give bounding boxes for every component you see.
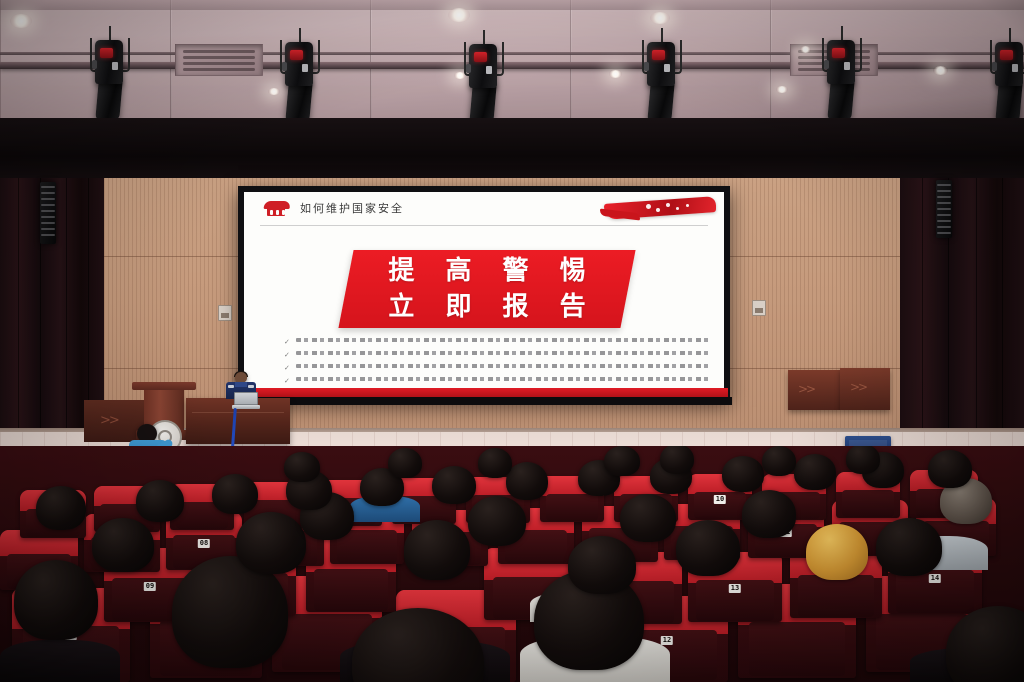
audience-head: [14, 560, 98, 640]
audience-head: [794, 454, 836, 490]
ceiling-downlight: [448, 8, 470, 22]
ceiling-downlight: [800, 46, 811, 53]
seat-number-plate: 09: [144, 582, 156, 591]
check-icon: ✓: [284, 338, 290, 347]
slide-bullet-item: ✓: [284, 338, 710, 347]
ceiling-downlight: [10, 14, 32, 28]
hvac-vent: [175, 44, 263, 76]
audience-shoulders: [0, 640, 120, 682]
seat-number-plate: 12: [661, 636, 673, 645]
audience-head: [36, 486, 86, 530]
audience-head: [620, 494, 676, 542]
auditorium-photo: 如何维护国家安全 提 高 警 惕 立 即 报 告 ✓✓✓✓ >>>> >>: [0, 0, 1024, 682]
presenter-laptop: [232, 392, 260, 410]
audience-head: [236, 512, 306, 574]
wall-power-outlet: [752, 300, 766, 316]
bullet-text-line: [296, 377, 710, 381]
ceiling-downlight: [933, 66, 948, 75]
slide-bullet-item: ✓: [284, 377, 710, 386]
ceiling-downlight: [268, 88, 280, 95]
audience-head: [846, 446, 880, 474]
audience-head: [722, 456, 764, 492]
slide-bullet-item: ✓: [284, 351, 710, 360]
check-icon: ✓: [284, 364, 290, 373]
stage-curtain-right: [900, 178, 1024, 440]
audience-head: [212, 474, 258, 514]
slide-bullet-item: ✓: [284, 364, 710, 373]
red-building-logo-icon: [264, 201, 290, 217]
audience-area: 0912091314081110: [0, 446, 1024, 682]
audience-head: [478, 448, 512, 478]
slogan-line-1: 提 高 警 惕: [377, 253, 596, 289]
slide-bullet-list: ✓✓✓✓: [284, 338, 710, 388]
audience-head: [928, 450, 972, 488]
audience-head: [742, 490, 796, 538]
audience-head: [876, 518, 942, 576]
slogan-banner-text: 提 高 警 惕 立 即 报 告: [346, 250, 628, 328]
seat-number-plate: 14: [929, 574, 941, 583]
audience-head: [568, 536, 636, 594]
presentation-slide: 如何维护国家安全 提 高 警 惕 立 即 报 告 ✓✓✓✓: [244, 192, 724, 388]
line-array-speaker: [936, 180, 952, 238]
audience-head: [468, 496, 526, 546]
audience-head: [284, 452, 320, 482]
stage-side-table: >>: [788, 370, 840, 410]
slide-header-title: 如何维护国家安全: [300, 200, 404, 216]
audience-head: [806, 524, 868, 580]
slide-header: 如何维护国家安全: [244, 192, 724, 226]
line-array-speaker: [40, 182, 56, 244]
red-flag-ribbon-icon: [598, 194, 720, 224]
check-icon: ✓: [284, 377, 290, 386]
ceiling-downlight: [776, 86, 788, 93]
audience-head: [604, 446, 640, 476]
slogan-line-2: 立 即 报 告: [377, 289, 596, 325]
audience-head: [136, 480, 184, 522]
check-icon: ✓: [284, 351, 290, 360]
audience-head: [660, 446, 694, 474]
seat-number-plate: 10: [714, 495, 726, 504]
seat-number-plate: 13: [729, 584, 741, 593]
bullet-text-line: [296, 351, 710, 355]
screen-bottom-frame: [236, 397, 732, 405]
audience-head: [676, 520, 740, 576]
stage-side-table: >>: [840, 368, 890, 410]
bullet-text-line: [296, 364, 710, 368]
audience-head: [388, 448, 422, 478]
audience-head: [404, 520, 470, 580]
wall-power-outlet: [218, 305, 232, 321]
bullet-text-line: [296, 338, 710, 342]
audience-head: [762, 446, 796, 476]
proscenium-band: [0, 118, 1024, 182]
seat-number-plate: 08: [198, 539, 210, 548]
audience-head: [506, 462, 548, 500]
audience-head: [432, 466, 476, 504]
ceiling-downlight: [650, 12, 670, 24]
ceiling-downlight: [609, 70, 622, 78]
desk-chevron-ornament: >>: [100, 413, 118, 428]
audience-head: [92, 518, 154, 572]
